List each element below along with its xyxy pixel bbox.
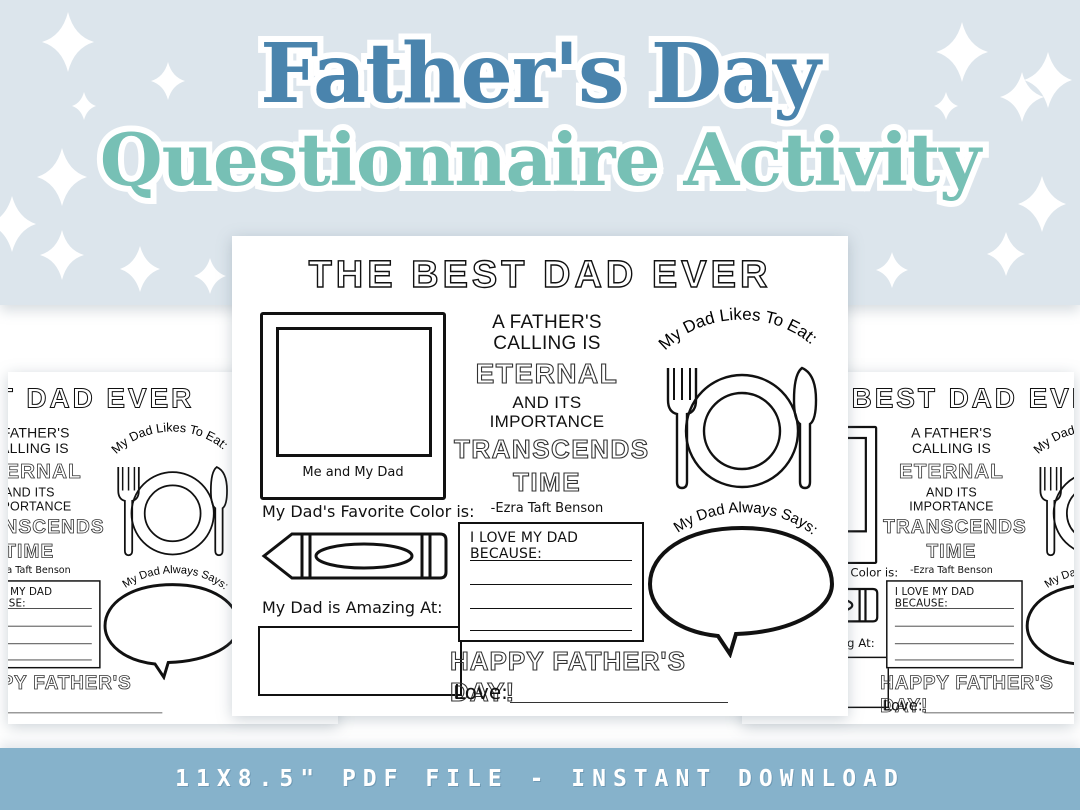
worksheet-preview-main[interactable]: THE BEST DAD EVER Me and My Dad A FATHER…	[232, 236, 848, 716]
quote-line-4: AND ITS IMPORTANCE	[8, 486, 98, 514]
quote-line-2: CALLING IS	[8, 441, 98, 457]
place-setting-illustration: My Dad Likes To Eat:	[644, 296, 840, 506]
place-setting-illustration: My Dad Likes To Eat:	[1023, 414, 1074, 568]
quote-line-6: TIME	[883, 541, 1020, 562]
quote-line-4: AND ITS IMPORTANCE	[883, 486, 1020, 514]
svg-text:My Dad Likes To Eat:: My Dad Likes To Eat:	[1031, 420, 1074, 456]
write-line	[895, 660, 1014, 661]
place-setting-illustration: My Dad Likes To Eat:	[101, 414, 245, 568]
quote-line-3: ETERNAL	[883, 460, 1020, 483]
likes-to-eat-label: My Dad Likes To Eat:	[655, 305, 821, 354]
love-because-label: I LOVE MY DAD BECAUSE:	[470, 530, 642, 562]
page-title-secondary: Questionnaire Activity	[100, 124, 980, 196]
love-because-label: I LOVE MY DAD BECAUSE:	[8, 586, 99, 610]
quote-line-5: TRANSCENDS	[8, 517, 98, 538]
quote-line-1: A FATHER'S	[883, 426, 1020, 442]
quote-line-1: A FATHER'S	[454, 312, 640, 333]
svg-text:My Dad Always Says:: My Dad Always Says:	[671, 499, 821, 538]
crayon-icon	[258, 528, 450, 584]
write-line	[895, 608, 1014, 609]
always-says-label: My Dad Always Says:	[120, 564, 230, 592]
photo-frame-inner	[276, 327, 432, 457]
speech-bubble-illustration: My Dad Always Says:	[640, 498, 844, 658]
love-signature-label: Love:	[883, 696, 923, 714]
love-because-box[interactable]: I LOVE MY DAD BECAUSE:	[458, 522, 644, 642]
photo-caption: Me and My Dad	[263, 465, 443, 480]
svg-text:My Dad Always Says:: My Dad Always Says:	[120, 564, 230, 592]
svg-text:My Dad Likes To Eat:: My Dad Likes To Eat:	[655, 305, 821, 354]
love-signature-line[interactable]	[510, 702, 728, 703]
quote-block: A FATHER'S CALLING IS ETERNAL AND ITS IM…	[883, 426, 1020, 576]
worksheet-page: THE BEST DAD EVER Me and My Dad A FATHER…	[232, 236, 848, 716]
quote-line-3: ETERNAL	[454, 359, 640, 390]
svg-text:My Dad Likes To Eat:: My Dad Likes To Eat:	[109, 420, 231, 456]
amazing-at-box[interactable]	[258, 626, 462, 696]
quote-line-3: ETERNAL	[8, 460, 98, 483]
write-line	[8, 626, 92, 627]
worksheet-title: THE BEST DAD EVER	[232, 254, 848, 297]
quote-block: A FATHER'S CALLING IS ETERNAL AND ITS IM…	[454, 312, 640, 516]
worksheet-page: THE BEST DAD EVER Me and My Dad A FATHER…	[8, 372, 251, 723]
always-says-label: My Dad Always Says:	[671, 499, 821, 538]
quote-line-6: TIME	[8, 541, 98, 562]
quote-line-2: CALLING IS	[454, 333, 640, 354]
footer-text: 11X8.5" PDF FILE - INSTANT DOWNLOAD	[175, 766, 905, 792]
love-signature-line[interactable]	[8, 713, 162, 714]
write-line	[470, 630, 632, 631]
quote-line-2: CALLING IS	[883, 441, 1020, 457]
footer-banner: 11X8.5" PDF FILE - INSTANT DOWNLOAD	[0, 748, 1080, 810]
love-because-box[interactable]: I LOVE MY DAD BECAUSE:	[8, 580, 101, 668]
love-signature-label: Love:	[454, 680, 508, 704]
quote-line-5: TRANSCENDS	[454, 435, 640, 464]
write-line	[8, 608, 92, 609]
write-line	[8, 643, 92, 644]
quote-line-5: TRANSCENDS	[883, 517, 1020, 538]
page-title-primary: Father's Day	[260, 34, 819, 114]
quote-line-1: A FATHER'S	[8, 426, 98, 442]
quote-author: -Ezra Taft Benson	[883, 564, 1020, 575]
quote-line-6: TIME	[454, 468, 640, 497]
write-line	[895, 626, 1014, 627]
speech-bubble-illustration: My Dad Always Says:	[1020, 563, 1074, 681]
love-because-box[interactable]: I LOVE MY DAD BECAUSE:	[886, 580, 1023, 668]
likes-to-eat-label: My Dad Likes To Eat:	[109, 420, 231, 456]
favorite-color-label: My Dad's Favorite Color is:	[262, 502, 475, 521]
write-line	[470, 608, 632, 609]
amazing-at-label: My Dad is Amazing At:	[262, 598, 442, 617]
write-line	[895, 643, 1014, 644]
quote-line-4: AND ITS IMPORTANCE	[454, 393, 640, 431]
love-because-label: I LOVE MY DAD BECAUSE:	[895, 586, 1021, 610]
write-line	[470, 584, 632, 585]
worksheet-title: THE BEST DAD EVER	[8, 383, 251, 415]
speech-bubble-illustration: My Dad Always Says:	[98, 563, 248, 681]
write-line	[8, 660, 92, 661]
quote-author: -Ezra Taft Benson	[454, 501, 640, 516]
love-signature-line[interactable]	[924, 713, 1074, 714]
likes-to-eat-label: My Dad Likes To Eat:	[1031, 420, 1074, 456]
quote-block: A FATHER'S CALLING IS ETERNAL AND ITS IM…	[8, 426, 98, 576]
photo-frame: Me and My Dad	[260, 312, 446, 500]
write-line	[470, 560, 632, 561]
quote-author: -Ezra Taft Benson	[8, 564, 98, 575]
